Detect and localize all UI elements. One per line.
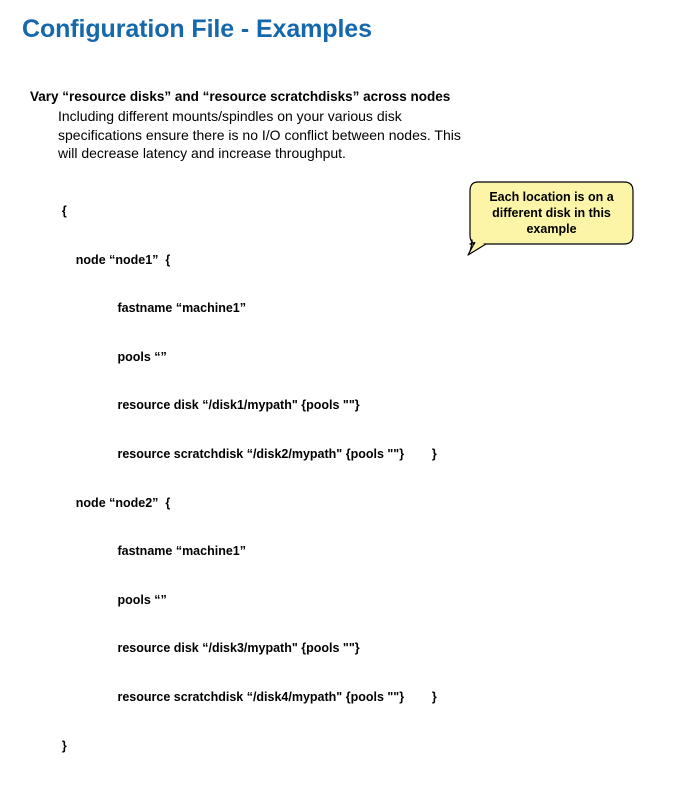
callout-text: Each location is on a different disk in … — [470, 182, 633, 244]
lead-paragraph: Including different mounts/spindles on y… — [58, 107, 478, 163]
slide-canvas: Configuration File - Examples Vary “reso… — [0, 0, 673, 445]
code-listing: { node “node1” { fastname “machine1” poo… — [48, 171, 673, 786]
code-line: pools “” — [48, 349, 673, 365]
code-line: fastname “machine1” — [48, 300, 673, 316]
code-line: pools “” — [48, 592, 673, 608]
code-line: resource scratchdisk “/disk4/mypath" {po… — [48, 689, 673, 705]
page-title: Configuration File - Examples — [22, 15, 372, 44]
code-line: node “node2” { — [48, 495, 673, 511]
callout-bubble: Each location is on a different disk in … — [470, 182, 633, 244]
code-line: resource disk “/disk3/mypath" {pools ""} — [48, 640, 673, 656]
code-line: } — [48, 738, 673, 754]
code-line: resource scratchdisk “/disk2/mypath" {po… — [48, 446, 673, 462]
lead-heading: Vary “resource disks” and “resource scra… — [30, 88, 673, 105]
code-line: fastname “machine1” — [48, 543, 673, 559]
code-line: resource disk “/disk1/mypath" {pools ""} — [48, 397, 673, 413]
